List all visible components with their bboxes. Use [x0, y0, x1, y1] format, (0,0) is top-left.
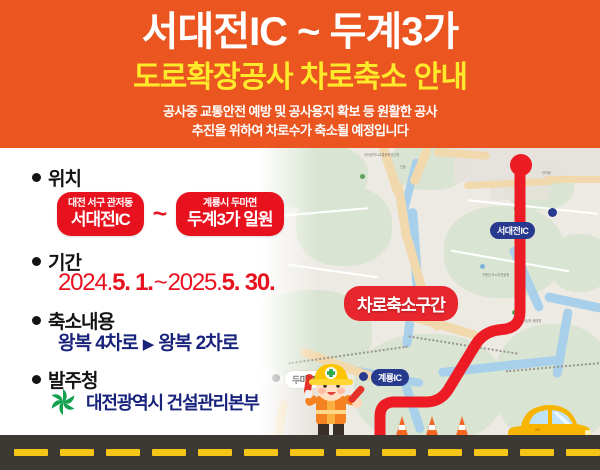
orderer-value: 대전광역시 건설관리본부: [48, 387, 259, 417]
period-start-month-day: 5. 1.: [112, 269, 153, 296]
period-separator: ~: [154, 269, 167, 296]
reduction-from: 왕복 4차로: [58, 333, 138, 354]
section-heading-location: 위치: [32, 164, 81, 191]
arrow-right-icon: ▶: [143, 336, 154, 353]
period-end-month-day: 5. 30.: [222, 269, 275, 296]
road-dash: [428, 449, 462, 456]
section-label-location: 위치: [48, 164, 81, 191]
road-dash: [60, 449, 94, 456]
reduction-value: 왕복 4차로▶왕복 2차로: [58, 328, 238, 355]
bullet-icon: [32, 257, 41, 266]
header-description-line2: 추진을 위하여 차로수가 축소될 예정입니다: [0, 121, 600, 140]
bullet-icon: [32, 173, 41, 182]
location-end-name: 두계3가 일원: [187, 210, 272, 230]
page-subtitle: 도로확장공사 차로축소 안내: [0, 58, 600, 98]
road-dash: [566, 449, 600, 456]
map-marker-gyeryong-ic[interactable]: 계룡IC: [371, 369, 409, 386]
road-dash: [14, 449, 48, 456]
marker-dot-duma-junction: [272, 374, 280, 382]
header-description-line1: 공사중 교통안전 예방 및 공사용지 확보 등 원활한 공사: [0, 102, 600, 121]
location-start-sub: 대전 서구 관저동: [68, 197, 133, 210]
location-end-sub: 계룡시 두마면: [203, 197, 257, 210]
period-end-year: 2025.: [168, 269, 222, 296]
reduction-to: 왕복 2차로: [158, 333, 238, 354]
marker-dot-seodaejeon-ic: [548, 208, 557, 217]
road-dash: [106, 449, 140, 456]
map-marker-seodaejeon-ic[interactable]: 서대전IC: [490, 222, 535, 239]
marker-dot-gyeryong-ic: [359, 372, 368, 381]
road-dash: [244, 449, 278, 456]
road-dash: [474, 449, 508, 456]
bullet-icon: [32, 375, 41, 384]
road-strip: [0, 435, 600, 470]
location-pill-end[interactable]: 계룡시 두마면 두계3가 일원: [176, 192, 283, 236]
period-value: 2024.5. 1.~2025.5. 30.: [58, 269, 275, 297]
page-title: 서대전IC ~ 두계3가: [0, 6, 600, 58]
poster-header: 서대전IC ~ 두계3가 도로확장공사 차로축소 안내 공사중 교통안전 예방 …: [0, 0, 600, 148]
daejeon-city-emblem-icon: [48, 387, 78, 417]
road-dash: [198, 449, 232, 456]
road-dash: [382, 449, 416, 456]
road-dash: [520, 449, 554, 456]
location-start-name: 서대전IC: [71, 210, 130, 230]
road-dash: [336, 449, 370, 456]
location-pills: 대전 서구 관저동 서대전IC ~ 계룡시 두마면 두계3가 일원: [57, 192, 284, 236]
orderer-name: 대전광역시 건설관리본부: [86, 389, 259, 415]
period-start-year: 2024.: [58, 269, 112, 296]
location-separator: ~: [153, 202, 168, 227]
header-description: 공사중 교통안전 예방 및 공사용지 확보 등 원활한 공사 추진을 위하여 차…: [0, 102, 600, 140]
road-dash: [152, 449, 186, 456]
construction-notice-poster: 서대전IC ~ 두계3가 도로확장공사 차로축소 안내 공사중 교통안전 예방 …: [0, 0, 600, 470]
road-dash: [290, 449, 324, 456]
location-pill-start[interactable]: 대전 서구 관저동 서대전IC: [57, 192, 144, 236]
map-label-reduced-section: 차로축소구간: [344, 286, 458, 321]
bullet-icon: [32, 316, 41, 325]
